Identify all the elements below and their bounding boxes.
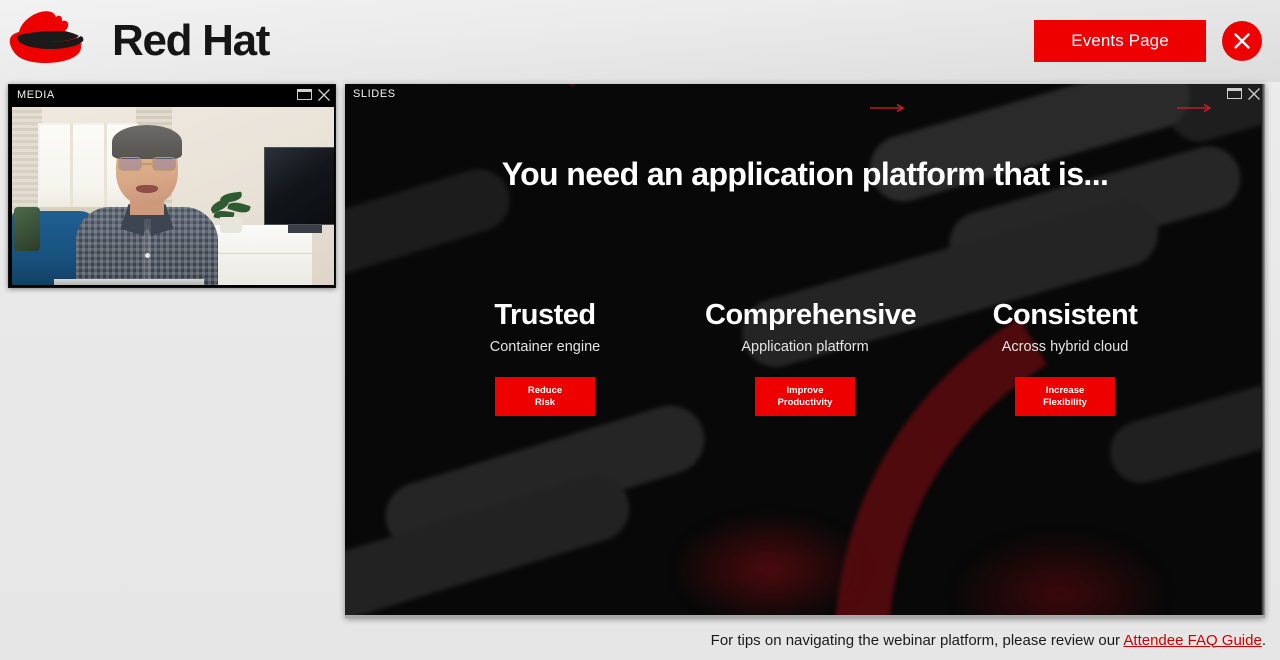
video-tv-stand [288,225,322,233]
media-panel-title: MEDIA [9,89,55,101]
brand-lockup: Red Hat [0,6,269,76]
footer-text-before: For tips on navigating the webinar platf… [711,632,1124,649]
pillar-subtitle: Across hybrid cloud [965,339,1165,355]
pillar-badge-line1: Increase [1046,385,1085,397]
footer-tips-text: For tips on navigating the webinar platf… [711,632,1266,649]
page-footer: For tips on navigating the webinar platf… [0,620,1280,660]
pillar-badge-line1: Reduce [528,385,562,397]
media-panel: MEDIA [8,84,336,288]
pillar-badge-reduce-risk[interactable]: Reduce Risk [495,377,595,416]
pillar-badge-increase-flexibility[interactable]: Increase Flexibility [1015,377,1115,416]
pillar-badge-line1: Improve [787,385,824,397]
video-presenter-glasses [116,157,178,171]
brand-name: Red Hat [112,19,269,63]
close-window-button[interactable] [1222,21,1262,61]
slide-content: You need an application platform that is… [345,84,1265,618]
pillar-heading: Comprehensive [705,300,905,330]
pillar-comprehensive: Comprehensive Application platform Impro… [705,300,905,416]
video-laptop-edge [54,279,204,285]
slides-panel-bottom-edge [345,615,1265,618]
video-cushion [14,207,40,251]
pillar-subtitle: Application platform [705,339,905,355]
pillar-heading: Trusted [445,300,645,330]
pillar-badge-line2: Risk [535,397,555,409]
video-presenter-hair [112,125,182,159]
pillar-badge-line2: Flexibility [1043,397,1087,409]
slides-panel-controls [1227,84,1261,103]
pillar-badge-line2: Productivity [778,397,833,409]
slide-pillars: Trusted Container engine Reduce Risk Com… [445,300,1165,416]
footer-text-after: . [1262,632,1266,649]
pillar-heading: Consistent [965,300,1165,330]
pillar-badge-improve-productivity[interactable]: Improve Productivity [755,377,855,416]
video-television [264,147,334,225]
page-header: Red Hat Events Page [0,0,1280,82]
arrow-right-icon [869,102,907,114]
events-page-button[interactable]: Events Page [1034,20,1206,62]
close-x-icon[interactable] [317,88,331,102]
video-presenter-mouth [136,185,158,193]
x-close-icon [1231,30,1253,52]
video-plant-pot [220,217,242,233]
presenter-video-feed[interactable] [12,107,334,285]
header-actions: Events Page [1034,20,1280,62]
window-restore-icon[interactable] [1227,88,1242,99]
video-shirt-button [145,253,150,258]
slides-panel-title: SLIDES [345,88,396,100]
media-panel-titlebar[interactable]: MEDIA [9,85,335,104]
window-restore-icon[interactable] [297,89,312,100]
attendee-faq-guide-link[interactable]: Attendee FAQ Guide [1123,632,1261,649]
media-panel-controls [297,85,331,104]
slides-panel-right-edge [1261,84,1265,618]
slide-title: You need an application platform that is… [345,156,1265,193]
slides-panel-titlebar[interactable]: SLIDES [345,84,1265,103]
red-hat-shadowman-logo [6,6,110,76]
close-x-icon[interactable] [1247,87,1261,101]
arrow-right-icon [1176,102,1214,114]
pillar-subtitle: Container engine [445,339,645,355]
video-shirt-placket [144,219,151,285]
slides-panel: You need an application platform that is… [345,84,1265,618]
pillar-consistent: Consistent Across hybrid cloud Increase … [965,300,1165,416]
pillar-trusted: Trusted Container engine Reduce Risk [445,300,645,416]
